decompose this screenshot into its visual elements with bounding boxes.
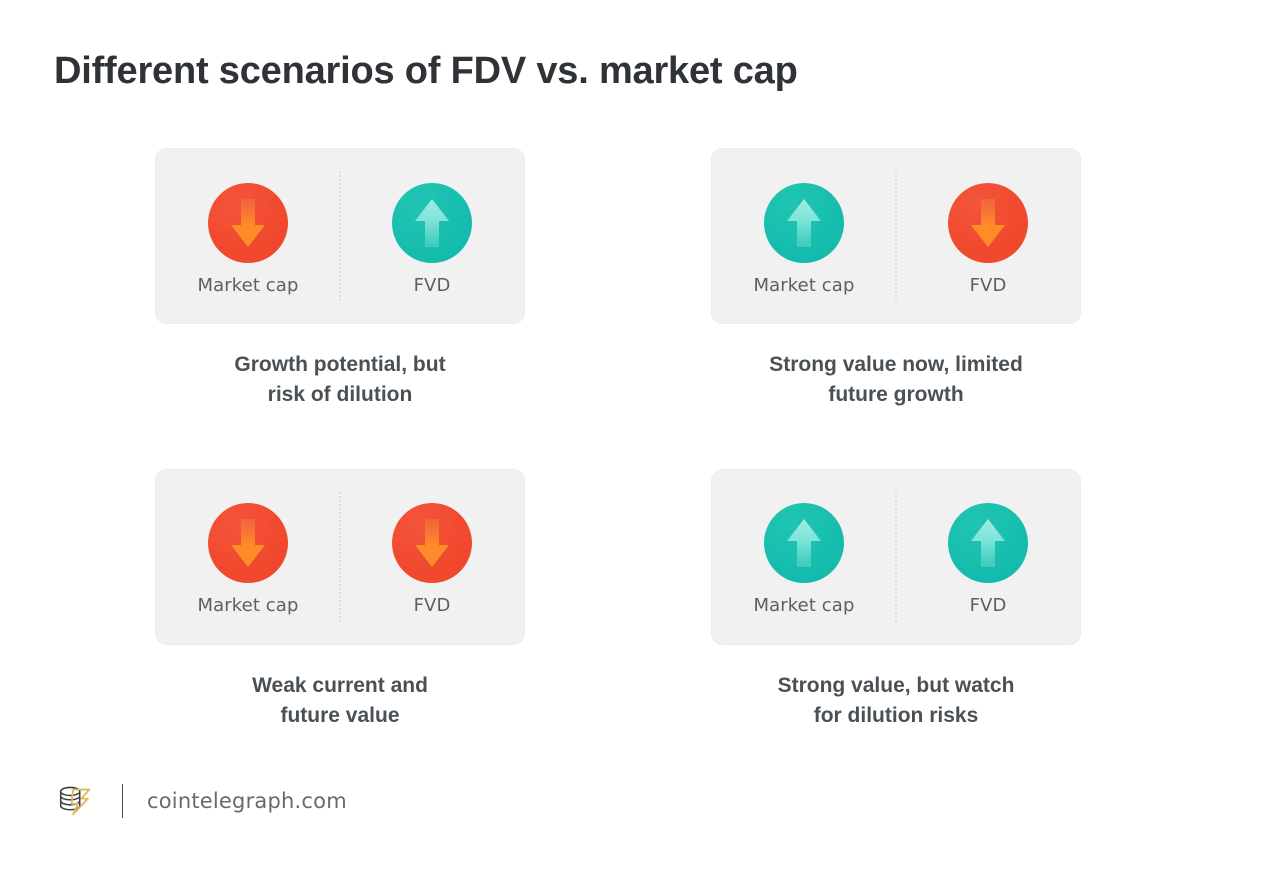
arrow-up-icon: [764, 183, 844, 263]
badge-label: FVD: [970, 275, 1007, 296]
arrow-down-icon: [208, 183, 288, 263]
scenario-caption: Weak current and future value: [252, 671, 428, 732]
cointelegraph-logo-icon: [54, 780, 96, 822]
card-divider: [339, 492, 341, 622]
badge-label: FVD: [970, 595, 1007, 616]
card-half-right: FVD: [340, 470, 524, 644]
caption-line-2: future growth: [828, 383, 963, 406]
scenario-card: Market cap: [711, 148, 1081, 324]
arrow-down-icon: [948, 183, 1028, 263]
scenario-card: Market cap: [155, 469, 525, 645]
badge-label: Market cap: [754, 595, 855, 616]
caption-line-2: for dilution risks: [814, 704, 979, 727]
scenario-growth-potential: Market cap: [120, 148, 560, 411]
badge-label: FVD: [414, 275, 451, 296]
scenario-caption: Strong value, but watch for dilution ris…: [778, 671, 1015, 732]
caption-line-1: Weak current and: [252, 674, 428, 697]
card-divider: [895, 171, 897, 301]
caption-line-1: Strong value, but watch: [778, 674, 1015, 697]
scenario-caption: Growth potential, but risk of dilution: [234, 350, 445, 411]
card-half-right: FVD: [896, 149, 1080, 323]
scenario-card: Market cap: [155, 148, 525, 324]
footer-site-label: cointelegraph.com: [147, 789, 347, 813]
arrow-down-icon: [392, 503, 472, 583]
arrow-up-icon: [948, 503, 1028, 583]
scenario-card: Market cap: [711, 469, 1081, 645]
arrow-down-icon: [208, 503, 288, 583]
card-half-left: Market cap: [712, 470, 896, 644]
scenario-weak-current-future: Market cap: [120, 469, 560, 732]
card-divider: [895, 492, 897, 622]
card-half-right: FVD: [896, 470, 1080, 644]
footer-divider: [122, 784, 123, 818]
badge-label: Market cap: [754, 275, 855, 296]
arrow-up-icon: [392, 183, 472, 263]
scenario-grid: Market cap: [120, 148, 1160, 732]
scenario-strong-value-now: Market cap: [676, 148, 1116, 411]
scenario-strong-value-dilution: Market cap: [676, 469, 1116, 732]
badge-label: FVD: [414, 595, 451, 616]
caption-line-2: risk of dilution: [268, 383, 413, 406]
arrow-up-icon: [764, 503, 844, 583]
card-half-left: Market cap: [156, 149, 340, 323]
footer: cointelegraph.com: [54, 780, 347, 822]
badge-label: Market cap: [198, 275, 299, 296]
card-half-right: FVD: [340, 149, 524, 323]
caption-line-1: Strong value now, limited: [769, 353, 1023, 376]
page-title: Different scenarios of FDV vs. market ca…: [54, 50, 798, 93]
infographic-page: Different scenarios of FDV vs. market ca…: [0, 0, 1280, 870]
card-half-left: Market cap: [712, 149, 896, 323]
caption-line-1: Growth potential, but: [234, 353, 445, 376]
card-divider: [339, 171, 341, 301]
card-half-left: Market cap: [156, 470, 340, 644]
caption-line-2: future value: [280, 704, 399, 727]
scenario-caption: Strong value now, limited future growth: [769, 350, 1023, 411]
badge-label: Market cap: [198, 595, 299, 616]
